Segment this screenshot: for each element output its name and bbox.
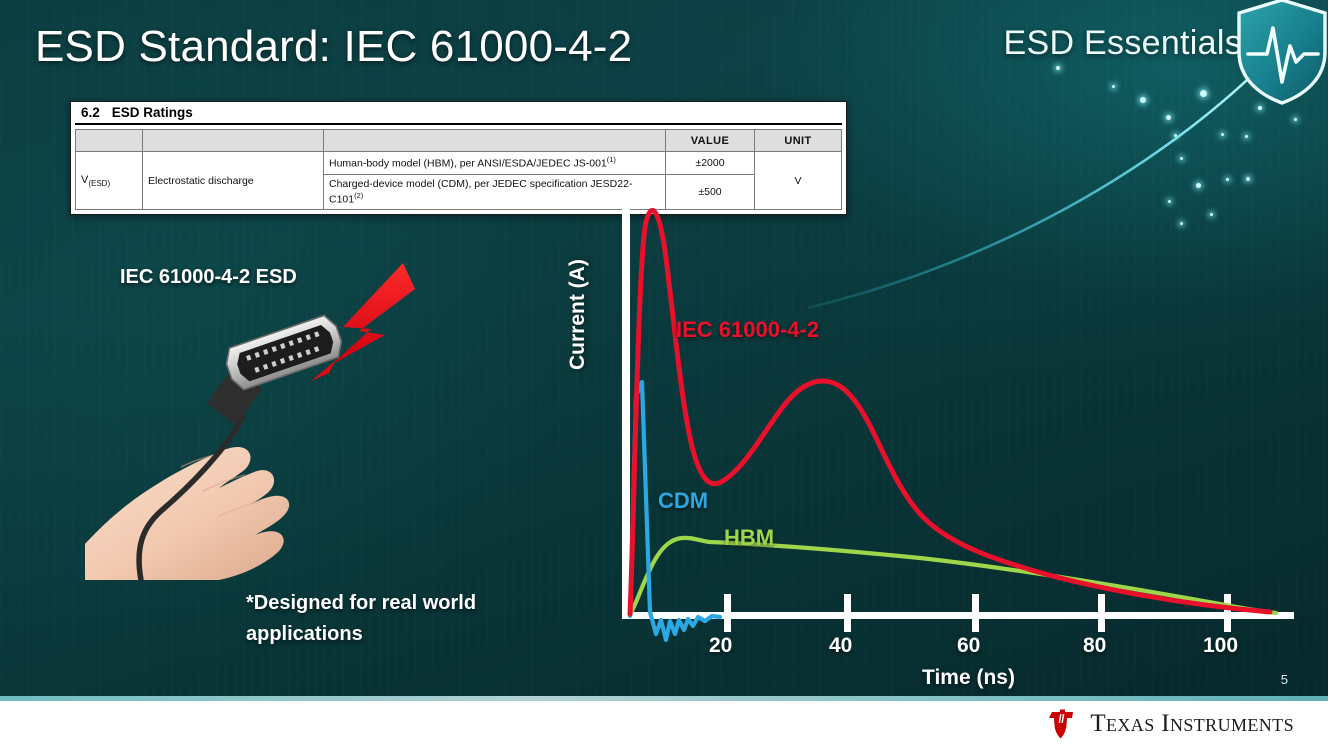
header-blank-symbol xyxy=(76,130,143,152)
texas-instruments-logo-icon xyxy=(1045,709,1079,739)
chart-axes xyxy=(622,204,1294,632)
cell-symbol: V(ESD) xyxy=(76,152,143,210)
table-section-title: 6.2ESD Ratings xyxy=(75,102,842,125)
table-section-name: ESD Ratings xyxy=(112,105,193,120)
company-name: Texas Instruments xyxy=(1090,710,1294,738)
note-text: *Designed for real world applications xyxy=(246,588,546,650)
cell-parameter: Electrostatic discharge xyxy=(143,152,324,210)
chart-annotation-iec: IEC 61000-4-2 xyxy=(676,317,819,343)
table-header-row: VALUE UNIT xyxy=(76,130,842,152)
slide-stage: ESD Standard: IEC 61000-4-2 ESD Essentia… xyxy=(0,0,1328,701)
symbol-subscript: (ESD) xyxy=(88,179,110,188)
x-tick-60: 60 xyxy=(957,634,980,658)
table-section-number: 6.2 xyxy=(81,105,100,120)
brand-label: ESD Essentials xyxy=(1003,24,1242,63)
header-unit: UNIT xyxy=(755,130,842,152)
header-value: VALUE xyxy=(666,130,755,152)
lightning-bolt-icon xyxy=(331,263,415,365)
header-blank-description xyxy=(324,130,666,152)
page-title: ESD Standard: IEC 61000-4-2 xyxy=(35,22,632,72)
x-tick-100: 100 xyxy=(1203,634,1238,658)
description-hbm-text: Human-body model (HBM), per ANSI/ESDA/JE… xyxy=(329,158,607,170)
footnote-marker-1: (1) xyxy=(607,155,616,164)
footnote-marker-2: (2) xyxy=(354,191,363,200)
chart-annotation-hbm: HBM xyxy=(724,525,774,551)
texas-instruments-logo: Texas Instruments xyxy=(1045,709,1294,739)
table-row: V(ESD) Electrostatic discharge Human-bod… xyxy=(76,152,842,175)
slide-number: 5 xyxy=(1281,672,1288,687)
x-tick-80: 80 xyxy=(1083,634,1106,658)
slide: ESD Standard: IEC 61000-4-2 ESD Essentia… xyxy=(0,0,1328,746)
chart-annotation-cdm: CDM xyxy=(658,488,708,514)
x-tick-20: 20 xyxy=(709,634,732,658)
cell-value-hbm: ±2000 xyxy=(666,152,755,175)
iec-curve xyxy=(630,210,1270,614)
cell-description-hbm: Human-body model (HBM), per ANSI/ESDA/JE… xyxy=(324,152,666,175)
esd-waveform-chart xyxy=(560,196,1300,696)
x-tick-40: 40 xyxy=(829,634,852,658)
shield-pulse-icon xyxy=(1232,0,1328,108)
header-blank-parameter xyxy=(143,130,324,152)
hand-connector-illustration xyxy=(85,255,430,580)
